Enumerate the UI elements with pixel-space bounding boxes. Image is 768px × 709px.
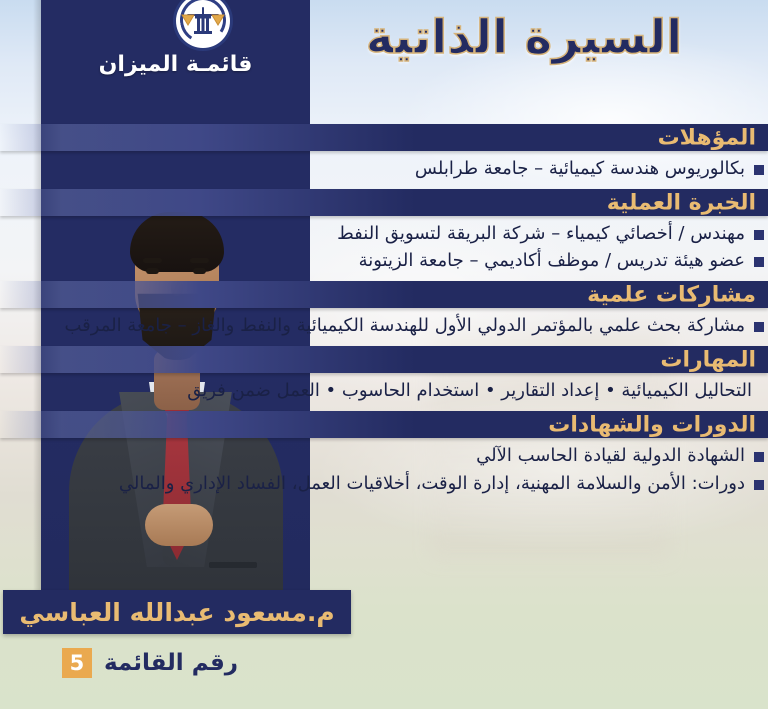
- section-item-list: مشاركة بحث علمي بالمؤتمر الدولي الأول لل…: [0, 308, 768, 344]
- party-name-label: قائمـة الميزان: [41, 52, 310, 77]
- section-header-bar: مشاركات علمية: [0, 281, 768, 308]
- party-logo: [168, 0, 238, 50]
- list-item: التحاليل الكيميائية • إعداد التقارير • ا…: [0, 378, 768, 404]
- candidate-name-banner: م.مسعود عبدالله العباسي: [3, 590, 351, 634]
- list-item-text: التحاليل الكيميائية • إعداد التقارير • ا…: [12, 378, 752, 404]
- section-heading: المؤهلات: [658, 125, 756, 150]
- section-header-bar: الدورات والشهادات: [0, 411, 768, 438]
- list-number-label: رقم القائمة: [104, 650, 238, 676]
- section-item-list: بكالوريوس هندسة كيميائية – جامعة طرابلس: [0, 151, 768, 187]
- square-bullet-icon: [754, 230, 764, 240]
- list-item-text: مشاركة بحث علمي بالمؤتمر الدولي الأول لل…: [12, 313, 745, 339]
- square-bullet-icon: [754, 322, 764, 332]
- square-bullet-icon: [754, 165, 764, 175]
- list-item: مشاركة بحث علمي بالمؤتمر الدولي الأول لل…: [0, 313, 768, 339]
- cv-section: الخبرة العمليةمهندس / أخصائي كيمياء – شر…: [0, 189, 768, 279]
- section-header-bar: المؤهلات: [0, 124, 768, 151]
- cv-sections: المؤهلاتبكالوريوس هندسة كيميائية – جامعة…: [0, 124, 768, 504]
- portrait-hands: [145, 504, 213, 546]
- list-item: بكالوريوس هندسة كيميائية – جامعة طرابلس: [0, 156, 768, 182]
- cv-section: الدورات والشهاداتالشهادة الدولية لقيادة …: [0, 411, 768, 501]
- list-item: الشهادة الدولية لقيادة الحاسب الآلي: [0, 443, 768, 469]
- list-item: دورات: الأمن والسلامة المهنية، إدارة الو…: [0, 471, 768, 497]
- portrait-suit-pocket: [209, 562, 257, 568]
- section-item-list: الشهادة الدولية لقيادة الحاسب الآليدورات…: [0, 438, 768, 501]
- list-item-text: مهندس / أخصائي كيمياء – شركة البريقة لتس…: [12, 221, 745, 247]
- section-heading: الدورات والشهادات: [548, 412, 756, 437]
- list-item-text: دورات: الأمن والسلامة المهنية، إدارة الو…: [12, 471, 745, 497]
- square-bullet-icon: [754, 480, 764, 490]
- scales-of-justice-icon: [176, 0, 230, 48]
- cv-section: المؤهلاتبكالوريوس هندسة كيميائية – جامعة…: [0, 124, 768, 187]
- list-number-row: رقم القائمة 5: [0, 646, 300, 680]
- section-heading: مشاركات علمية: [587, 282, 756, 307]
- section-heading: المهارات: [660, 347, 756, 372]
- section-item-list: مهندس / أخصائي كيمياء – شركة البريقة لتس…: [0, 216, 768, 279]
- section-item-list: التحاليل الكيميائية • إعداد التقارير • ا…: [0, 373, 768, 409]
- cv-section: مشاركات علميةمشاركة بحث علمي بالمؤتمر ال…: [0, 281, 768, 344]
- list-item-text: الشهادة الدولية لقيادة الحاسب الآلي: [12, 443, 745, 469]
- list-item: مهندس / أخصائي كيمياء – شركة البريقة لتس…: [0, 221, 768, 247]
- section-heading: الخبرة العملية: [607, 190, 756, 215]
- square-bullet-icon: [754, 452, 764, 462]
- section-header-bar: الخبرة العملية: [0, 189, 768, 216]
- page-title: السيرة الذاتية: [304, 6, 744, 70]
- list-item-text: عضو هيئة تدريس / موظف أكاديمي – جامعة ال…: [12, 248, 745, 274]
- cv-section: المهاراتالتحاليل الكيميائية • إعداد التق…: [0, 346, 768, 409]
- square-bullet-icon: [754, 257, 764, 267]
- list-item: عضو هيئة تدريس / موظف أكاديمي – جامعة ال…: [0, 248, 768, 274]
- candidate-name-label: م.مسعود عبدالله العباسي: [19, 598, 334, 627]
- list-item-text: بكالوريوس هندسة كيميائية – جامعة طرابلس: [12, 156, 745, 182]
- section-header-bar: المهارات: [0, 346, 768, 373]
- list-number-badge: 5: [62, 648, 92, 678]
